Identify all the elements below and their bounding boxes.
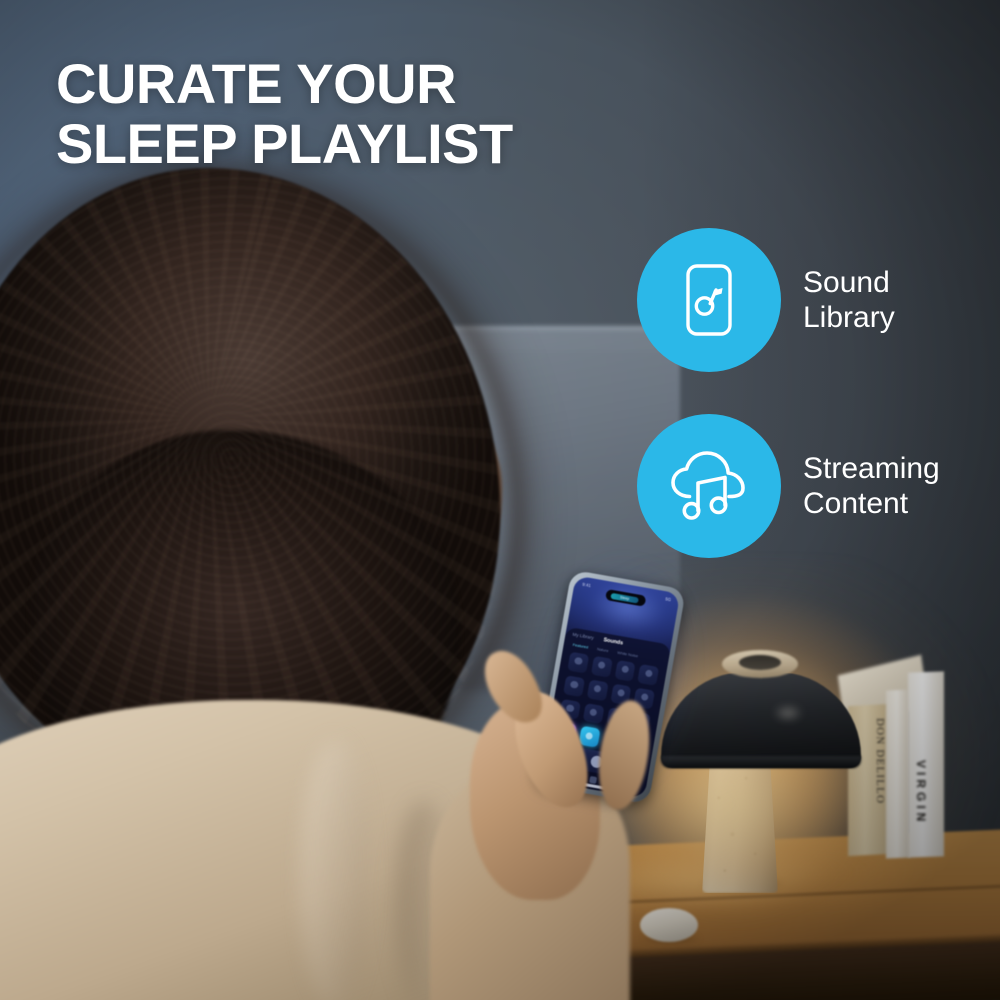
sound-tile[interactable] [637,664,659,686]
sound-tile[interactable] [587,679,609,701]
sound-tile[interactable] [614,660,636,682]
headline-line-2: SLEEP PLAYLIST [56,114,676,174]
subtab-nature[interactable]: Nature [597,646,609,653]
blouse-fold [300,740,370,1000]
headline-line-1: CURATE YOUR [56,54,676,114]
subtab-white-noise[interactable]: White Noise [617,650,639,659]
cloud-music-note-icon [667,446,751,526]
feature-item-sound-library: Sound Library [637,228,967,372]
phone-music-note-icon [672,259,746,341]
badge-circle-streaming-content [637,414,781,558]
sound-tile[interactable] [591,656,613,678]
subtab-featured[interactable]: Featured [572,642,588,650]
sound-tile[interactable] [582,703,604,725]
sound-tile[interactable] [567,652,589,674]
tab-my-library[interactable]: My Library [572,632,594,641]
page-title: CURATE YOUR SLEEP PLAYLIST [56,54,676,174]
feature-item-streaming-content: Streaming Content [637,414,967,558]
tab-icon-sounds[interactable] [590,776,598,784]
sound-tile[interactable] [563,675,585,697]
feature-label-sound-library: Sound Library [803,265,895,336]
promo-image: DON DELILLO VIRGIN 9:41 5G Sleep [0,0,1000,1000]
badge-circle-sound-library [637,228,781,372]
status-time: 9:41 [582,581,591,587]
tab-sounds[interactable]: Sounds [603,637,624,646]
feature-list: Sound Library Streaming Content [637,228,967,600]
feature-label-streaming-content: Streaming Content [803,451,940,522]
